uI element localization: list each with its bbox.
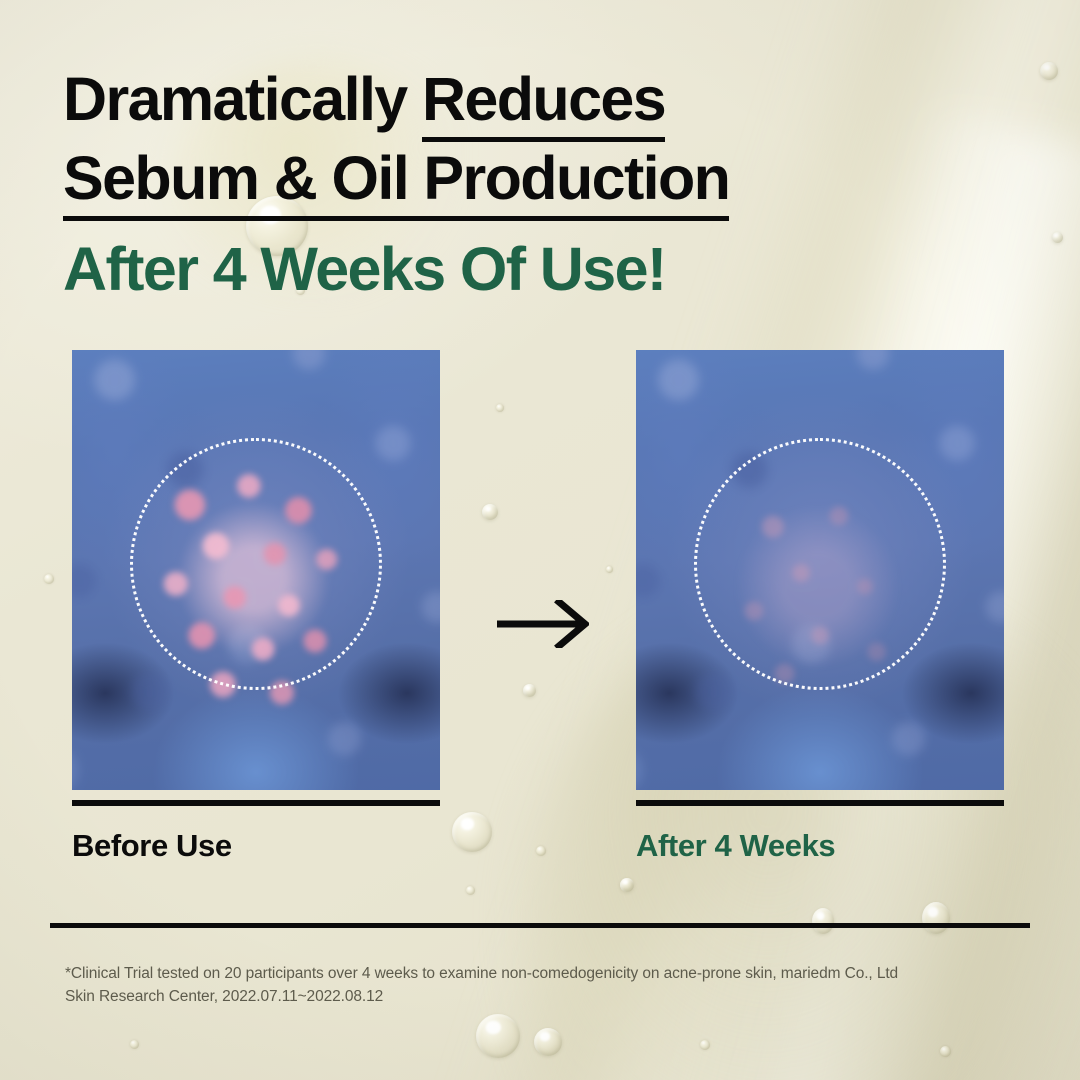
comparison-panels: [72, 350, 1004, 790]
measurement-circle-icon: [694, 438, 946, 690]
footnote-block: *Clinical Trial tested on 20 participant…: [65, 962, 965, 1008]
measurement-circle-icon: [130, 438, 382, 690]
footnote-line-1: *Clinical Trial tested on 20 participant…: [65, 962, 965, 985]
ad-canvas: Dramatically Reduces Sebum & Oil Product…: [0, 0, 1080, 1080]
before-caption-label: Before Use: [72, 828, 440, 864]
after-caption-label: After 4 Weeks: [636, 828, 1004, 864]
headline-line-1-underlined: Reduces: [422, 65, 665, 142]
after-image-panel: [636, 350, 1004, 790]
headline-line-2-text: Sebum & Oil Production: [63, 144, 729, 221]
caption-rule: [636, 800, 1004, 806]
headline-line-2: Sebum & Oil Production: [63, 141, 1003, 216]
footnote-divider: [50, 923, 1030, 928]
before-image-panel: [72, 350, 440, 790]
headline-line-3: After 4 Weeks Of Use!: [63, 232, 1003, 307]
caption-rule: [72, 800, 440, 806]
headline-line-1-plain: Dramatically: [63, 65, 422, 133]
footnote-line-2: Skin Research Center, 2022.07.11~2022.08…: [65, 985, 965, 1008]
headline-block: Dramatically Reduces Sebum & Oil Product…: [63, 62, 1003, 307]
headline-line-1: Dramatically Reduces: [63, 62, 1003, 137]
after-caption-block: After 4 Weeks: [636, 800, 1004, 864]
before-caption-block: Before Use: [72, 800, 440, 864]
right-arrow-icon: [497, 600, 589, 648]
